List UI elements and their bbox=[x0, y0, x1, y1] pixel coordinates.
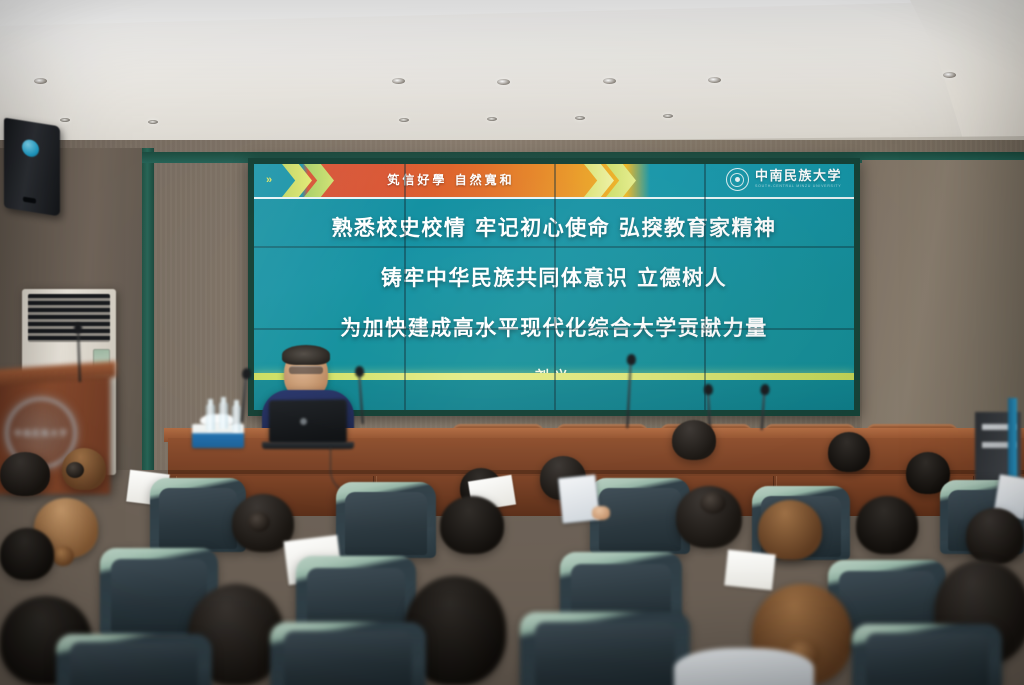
auditorium-seat[interactable] bbox=[270, 622, 426, 685]
presentation-screen: » 笂信好學 自然寬和 中南民族大学 SOUTH-CENTRAL MINZU U… bbox=[254, 164, 854, 410]
video-wall-seam bbox=[254, 246, 854, 248]
downlight-icon bbox=[60, 118, 70, 122]
downlight-icon bbox=[399, 118, 409, 122]
downlight-icon bbox=[708, 77, 721, 83]
double-chevron-icon: » bbox=[266, 175, 270, 186]
audience-head bbox=[0, 452, 50, 496]
audience-head bbox=[758, 500, 822, 560]
lecture-hall-photo: » 笂信好學 自然寬和 中南民族大学 SOUTH-CENTRAL MINZU U… bbox=[0, 0, 1024, 685]
presenter-hair bbox=[282, 345, 330, 365]
desk-shadow-line bbox=[168, 470, 1024, 474]
audience-head bbox=[440, 496, 504, 554]
audience-hair-bun bbox=[700, 492, 726, 514]
downlight-icon bbox=[497, 79, 510, 85]
laptop[interactable] bbox=[269, 399, 346, 444]
audience-head bbox=[856, 496, 918, 554]
water-bottle bbox=[219, 402, 228, 429]
wall-speaker bbox=[4, 118, 60, 217]
downlight-icon bbox=[148, 120, 158, 124]
ac-louvers-icon bbox=[28, 294, 110, 342]
downlight-icon bbox=[575, 116, 585, 120]
video-wall-seam bbox=[554, 164, 556, 410]
speaker-badge-icon bbox=[22, 138, 39, 158]
video-wall-seam bbox=[404, 164, 406, 410]
university-emblem-icon bbox=[726, 168, 749, 191]
university-motto: 笂信好學 自然寬和 bbox=[336, 171, 566, 188]
laptop-logo-icon bbox=[300, 418, 307, 425]
presenter-glasses-icon bbox=[289, 366, 323, 374]
audience-head bbox=[966, 508, 1024, 564]
water-bottle bbox=[232, 405, 241, 432]
downlight-icon bbox=[392, 78, 405, 84]
university-name-cn: 中南民族大学 bbox=[755, 170, 842, 183]
university-name-en: SOUTH-CENTRAL MINZU UNIVERSITY bbox=[755, 185, 842, 189]
audience-hair-bun bbox=[66, 462, 84, 478]
audience-hand bbox=[592, 506, 610, 520]
handout-paper bbox=[724, 550, 776, 591]
audience-head bbox=[0, 528, 54, 580]
audience-head bbox=[828, 432, 870, 472]
downlight-icon bbox=[603, 78, 616, 84]
downlight-icon bbox=[487, 117, 497, 121]
university-logo: 中南民族大学 SOUTH-CENTRAL MINZU UNIVERSITY bbox=[726, 168, 842, 191]
lectern-emblem-text: 中南民族大学 bbox=[14, 428, 68, 439]
chevron-icon bbox=[282, 164, 312, 197]
auditorium-seat[interactable] bbox=[520, 612, 690, 685]
video-wall-seam bbox=[704, 164, 706, 410]
audience-shoulder bbox=[674, 648, 814, 685]
speaker-port-icon bbox=[23, 197, 36, 204]
video-wall-seam bbox=[254, 328, 854, 330]
auditorium-seat[interactable] bbox=[56, 634, 212, 685]
chevron-icon bbox=[584, 164, 614, 197]
audience-hair-bun bbox=[52, 546, 74, 566]
audience-head bbox=[672, 420, 716, 460]
wall-green-trim-vertical bbox=[142, 148, 154, 470]
downlight-icon bbox=[34, 78, 47, 84]
auditorium-seat[interactable] bbox=[852, 624, 1002, 685]
audience-hair-bun bbox=[248, 512, 270, 532]
ceiling bbox=[0, 0, 1024, 152]
video-wall-frame: » 笂信好學 自然寬和 中南民族大学 SOUTH-CENTRAL MINZU U… bbox=[248, 158, 860, 416]
auditorium-seat[interactable] bbox=[336, 482, 436, 558]
downlight-icon bbox=[663, 114, 673, 118]
auditorium-seat[interactable] bbox=[150, 478, 246, 552]
water-bottle bbox=[206, 404, 215, 431]
downlight-icon bbox=[943, 72, 956, 78]
